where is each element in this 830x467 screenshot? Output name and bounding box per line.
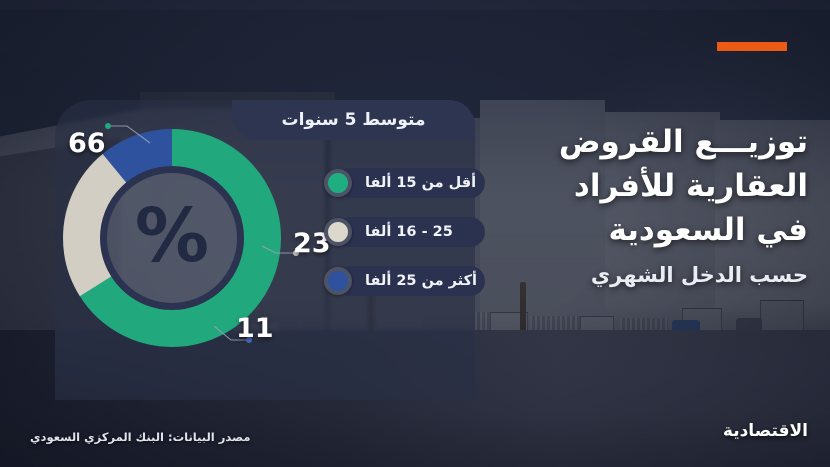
legend-label-high: أكثر من 25 ألفا xyxy=(365,273,477,289)
accent-bar xyxy=(717,42,787,51)
title-block: توزيـــع القروض العقارية للأفراد في السع… xyxy=(508,120,808,292)
infographic-stage: متوسط 5 سنوات % 66 23 11 أقل من 15 ألفا xyxy=(0,0,830,467)
title-line-1: توزيـــع القروض xyxy=(508,120,808,164)
legend-label-low: أقل من 15 ألفا xyxy=(365,175,476,191)
value-label-66: 66 xyxy=(68,128,106,159)
legend-item-mid[interactable]: 25 - 16 ألفا xyxy=(335,217,485,247)
data-source: مصدر البيانات: البنك المركزي السعودي xyxy=(30,430,250,444)
subtitle: حسب الدخل الشهري xyxy=(508,260,808,292)
legend: أقل من 15 ألفا 25 - 16 ألفا أكثر من 25 أ… xyxy=(335,168,485,315)
legend-swatch-beige xyxy=(324,218,352,246)
title-line-2: العقارية للأفراد xyxy=(508,164,808,208)
legend-item-low[interactable]: أقل من 15 ألفا xyxy=(335,168,485,198)
legend-label-mid: 25 - 16 ألفا xyxy=(365,224,453,240)
legend-swatch-blue xyxy=(324,267,352,295)
publisher-logo: الاقتصادية xyxy=(723,421,808,441)
legend-item-high[interactable]: أكثر من 25 ألفا xyxy=(335,266,485,296)
value-label-11: 11 xyxy=(236,313,274,344)
title-line-3: في السعودية xyxy=(508,208,808,252)
legend-swatch-green xyxy=(324,169,352,197)
